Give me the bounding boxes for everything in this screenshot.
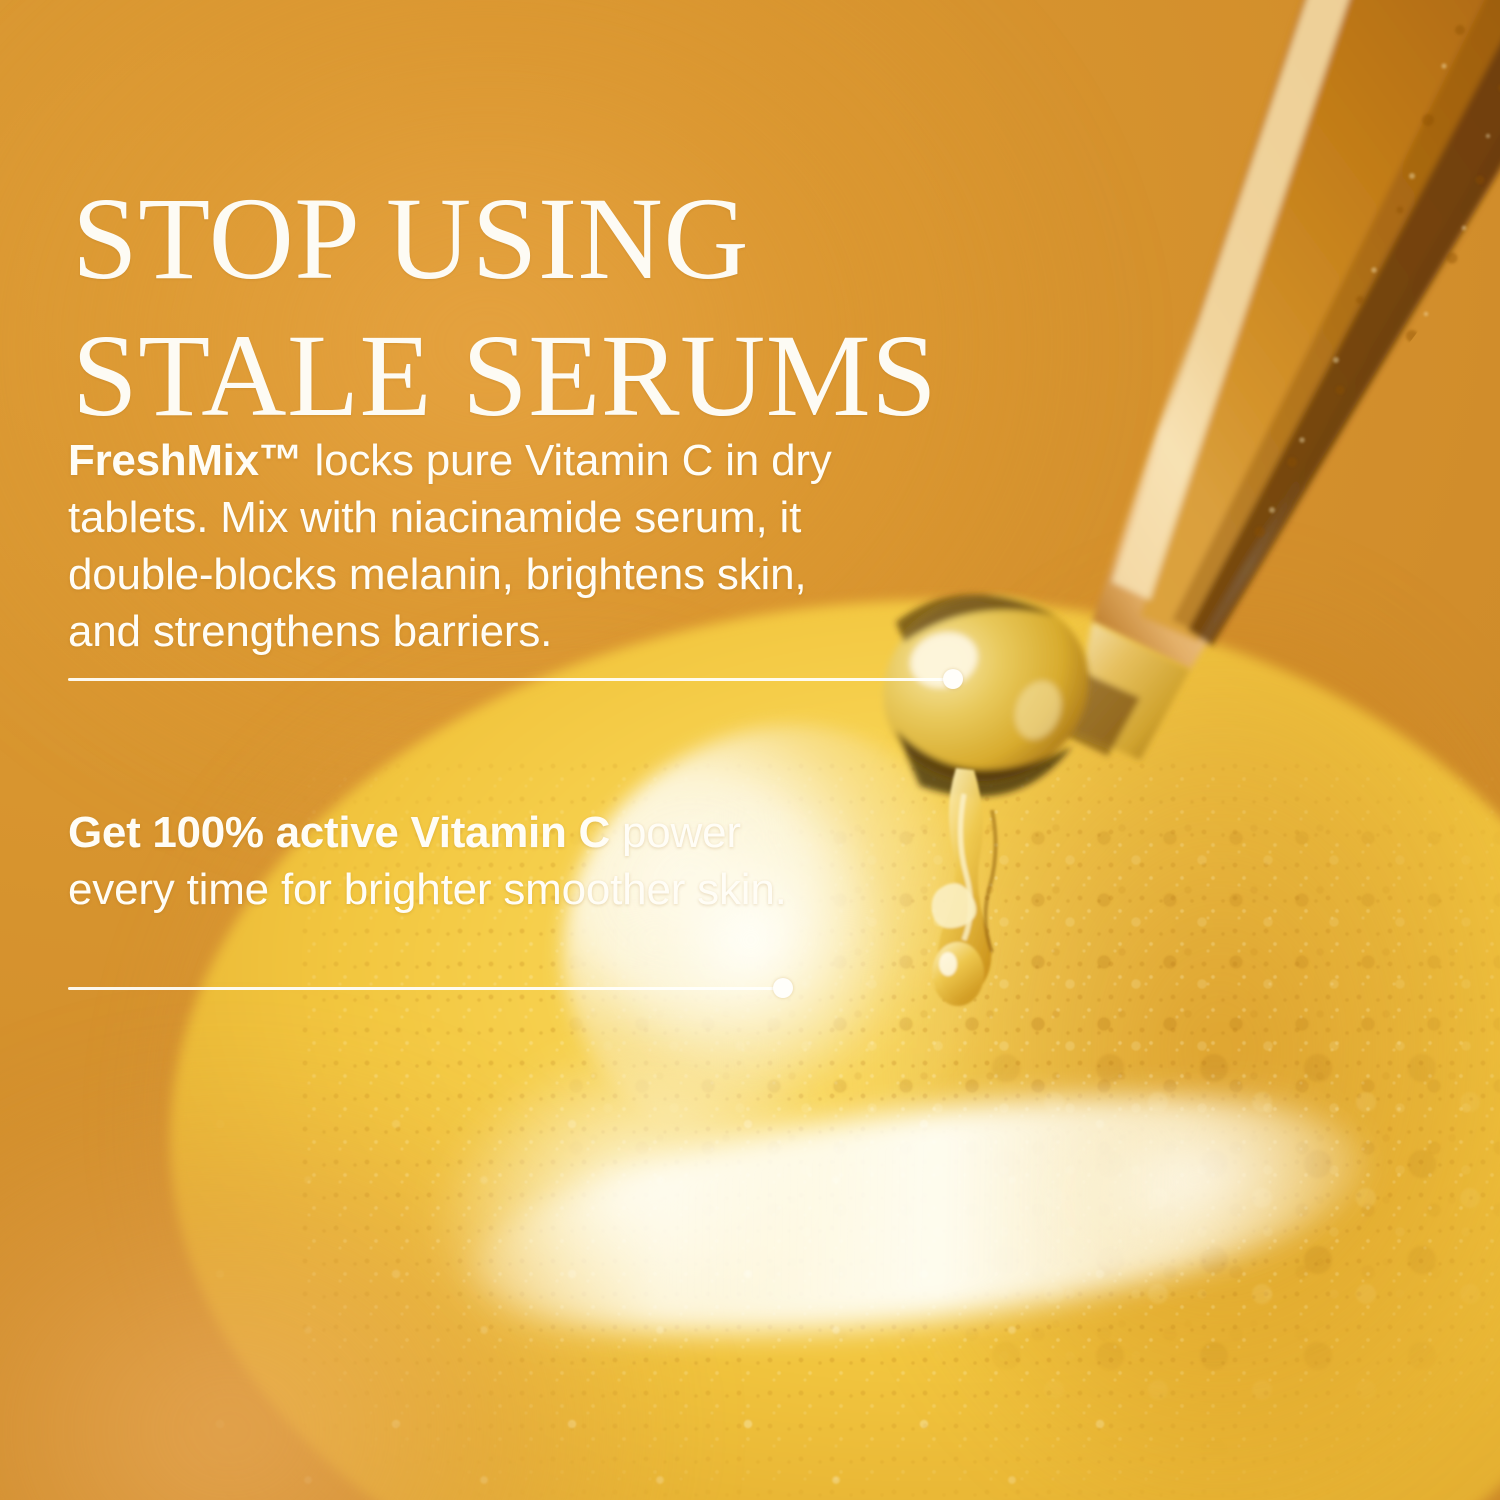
benefit-paragraph: FreshMix™ locks pure Vitamin C in dry ta… [68,432,868,660]
product-benefit-banner: STOP USING STALE SERUMS FreshMix™ locks … [0,0,1500,1500]
divider-line [68,678,954,681]
divider-potency [68,978,784,998]
divider-endpoint-dot [943,669,963,689]
benefit-block-potency: Get 100% active Vitamin C power every ti… [68,804,828,918]
benefit-paragraph: Get 100% active Vitamin C power every ti… [68,804,828,918]
divider-freshmix [68,669,954,689]
copy-layer: STOP USING STALE SERUMS FreshMix™ locks … [0,0,1500,1500]
benefit-bold-lead: Get 100% active Vitamin C [68,808,610,857]
benefit-block-freshmix: FreshMix™ locks pure Vitamin C in dry ta… [68,432,868,660]
page-title: STOP USING STALE SERUMS [72,171,1122,445]
divider-endpoint-dot [773,978,793,998]
benefit-bold-lead: FreshMix™ [68,436,302,485]
divider-line [68,987,784,990]
